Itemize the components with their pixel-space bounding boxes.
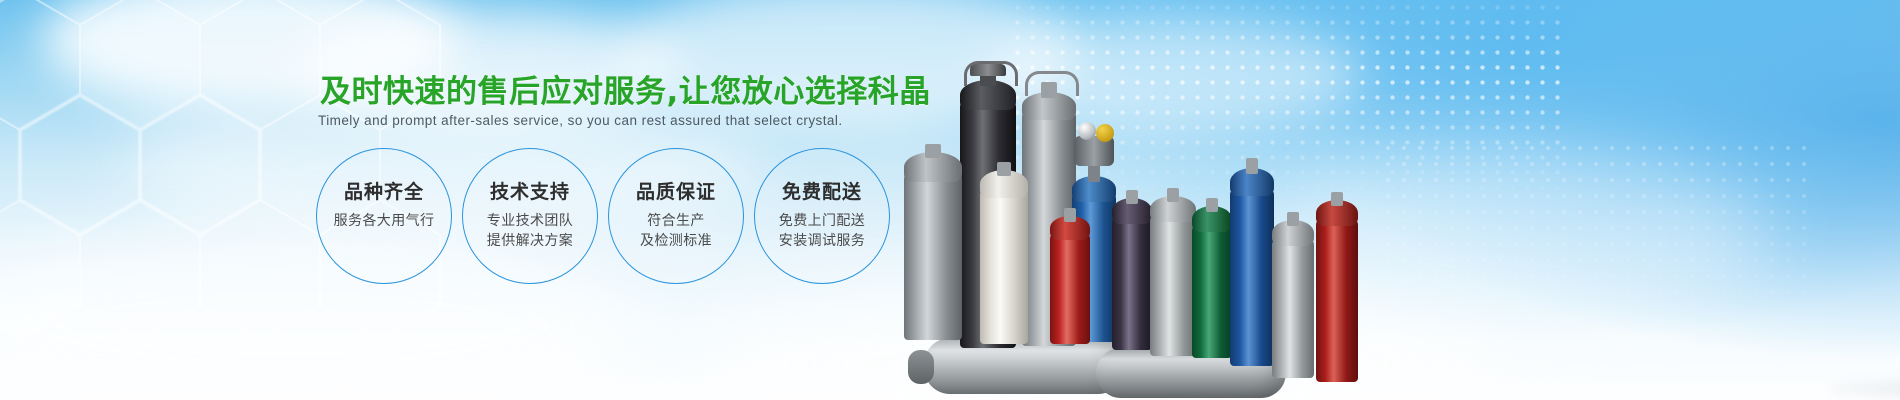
badge-description-line: 专业技术团队 [463, 211, 597, 231]
gas-cylinder-group-photo [900, 0, 1900, 400]
aluminium-cylinder [1272, 212, 1314, 378]
aluminium-cylinder [1150, 186, 1196, 356]
cylinder-body [1150, 214, 1196, 356]
cylinder-body [980, 188, 1028, 344]
cylinder-neck [997, 162, 1011, 176]
badge-title: 免费配送 [755, 177, 889, 204]
badge-title: 品种齐全 [317, 177, 451, 204]
horizontal-tank-left [924, 338, 1124, 394]
red-small-cylinder [1050, 208, 1090, 344]
cylinder-handle [964, 61, 1018, 86]
cylinder-body [1112, 216, 1152, 350]
cylinder-body [1192, 224, 1232, 358]
feature-badge-mian-fei-pei-song[interactable]: 免费配送 免费上门配送 安装调试服务 [754, 148, 890, 284]
badge-description: 专业技术团队 提供解决方案 [463, 211, 597, 251]
dark-purple-cylinder [1112, 190, 1152, 350]
badge-description-line: 免费上门配送 [755, 211, 889, 231]
blue-tall-cylinder [1230, 158, 1274, 366]
cylinder-neck [1331, 192, 1343, 206]
group-shadow [1830, 372, 1900, 400]
feature-badge-ji-shu-zhi-chi[interactable]: 技术支持 专业技术团队 提供解决方案 [462, 148, 598, 284]
cylinder-neck [1126, 190, 1138, 204]
feature-badge-pin-zhong-qi-quan[interactable]: 品种齐全 服务各大用气行 [316, 148, 452, 284]
white-cylinder [980, 162, 1028, 344]
silver-large-cylinder [904, 144, 962, 340]
badge-description-line: 符合生产 [609, 211, 743, 231]
cylinder-handwheel [1096, 124, 1114, 142]
horizontal-tank-left-cap [908, 350, 934, 384]
badge-description: 免费上门配送 安装调试服务 [755, 211, 889, 251]
cylinder-neck [1206, 198, 1218, 212]
cylinder-neck [1287, 212, 1299, 226]
badge-description-line: 安装调试服务 [755, 231, 889, 251]
feature-badge-list: 品种齐全 服务各大用气行 技术支持 专业技术团队 提供解决方案 品质保证 符合生… [300, 148, 940, 283]
cylinder-body [1230, 188, 1274, 366]
badge-description-line: 服务各大用气行 [317, 211, 451, 231]
cylinder-body [1272, 238, 1314, 378]
badge-description-line: 及检测标准 [609, 231, 743, 251]
promo-banner: 及时快速的售后应对服务,让您放心选择科晶 Timely and prompt a… [0, 0, 1900, 400]
cylinder-neck [1246, 158, 1258, 174]
cylinder-neck [1088, 164, 1100, 182]
page-title: 及时快速的售后应对服务,让您放心选择科晶 [320, 74, 900, 110]
cylinder-neck [925, 144, 941, 158]
cylinder-pressure-gauge [1078, 122, 1096, 140]
badge-title: 技术支持 [463, 177, 597, 204]
badge-description-line: 提供解决方案 [463, 231, 597, 251]
badge-description: 符合生产 及检测标准 [609, 211, 743, 251]
cylinder-body [1316, 218, 1358, 382]
cylinder-handle [1025, 71, 1079, 96]
green-cylinder [1192, 198, 1232, 358]
badge-description: 服务各大用气行 [317, 211, 451, 231]
cylinder-neck [1064, 208, 1076, 222]
badge-title: 品质保证 [609, 177, 743, 204]
cylinder-neck [1167, 188, 1179, 202]
cylinder-body [904, 172, 962, 340]
red-tall-cylinder [1316, 190, 1358, 382]
feature-badge-pin-zhi-bao-zheng[interactable]: 品质保证 符合生产 及检测标准 [608, 148, 744, 284]
page-subtitle: Timely and prompt after-sales service, s… [318, 112, 918, 130]
cylinder-body [1050, 232, 1090, 344]
